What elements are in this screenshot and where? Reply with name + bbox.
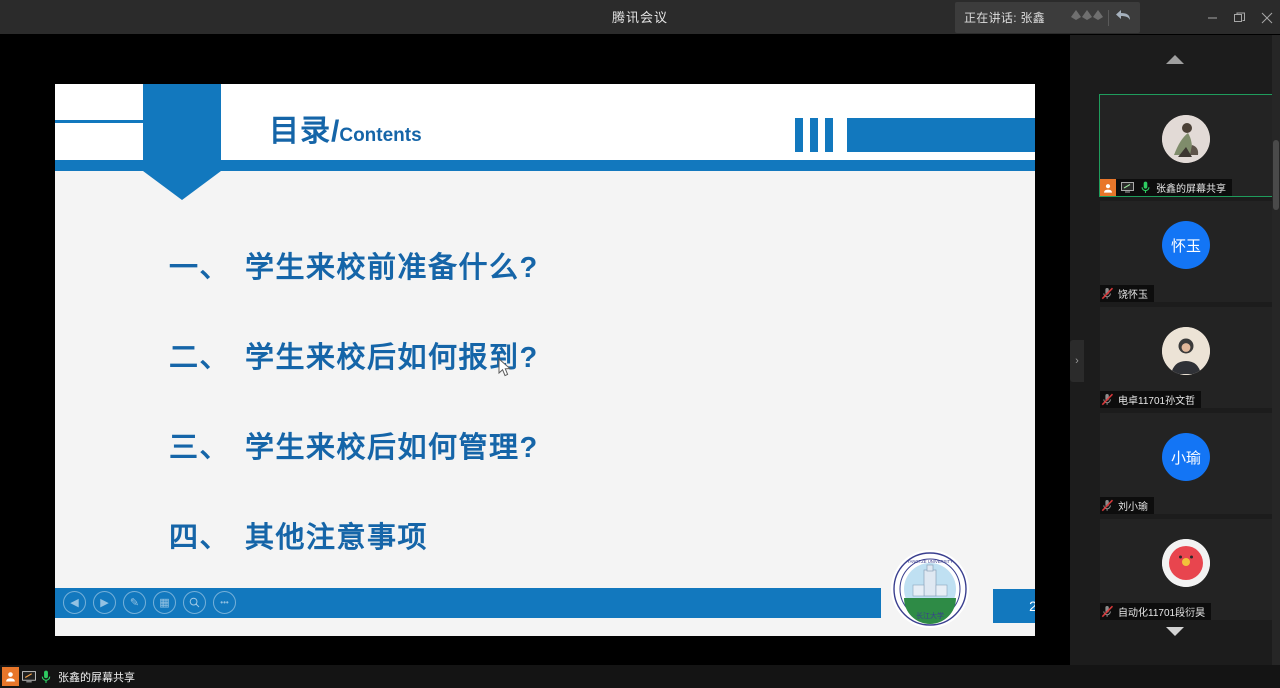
taskbar-item-label: 张鑫的屏幕共享: [58, 669, 135, 685]
slide-title: 目录/Contents: [269, 106, 422, 150]
microphone-icon: [1138, 181, 1152, 194]
slide-page-number: 2: [993, 589, 1035, 623]
active-speaker-chip: 正在讲话: 张鑫: [955, 2, 1140, 33]
participant-name: 电卓11701孙文哲: [1118, 392, 1195, 407]
title-bar[interactable]: 腾讯会议 正在讲话: 张鑫: [0, 0, 1280, 35]
list-item-text: 其他注意事项: [245, 514, 428, 556]
participant-tile[interactable]: 怀玉 饶怀玉: [1100, 201, 1272, 302]
restore-button[interactable]: [1226, 0, 1253, 35]
slide-title-cn: 目录: [269, 115, 331, 148]
list-item-number: 三、: [169, 424, 245, 466]
shared-screen-area[interactable]: 目录/Contents 一、 学生来校前准备什么? 二、 学生来校后如何报到? …: [0, 35, 1070, 665]
next-slide-icon[interactable]: ▶: [93, 591, 116, 614]
avatar: [1162, 327, 1210, 375]
list-item: 三、 学生来校后如何管理?: [169, 424, 1009, 466]
list-item-text: 学生来校后如何管理?: [245, 424, 539, 466]
participant-label: 电卓11701孙文哲: [1100, 391, 1201, 408]
host-icon: [2, 667, 19, 686]
audio-wave-icon: [1070, 8, 1104, 27]
avatar: [1162, 115, 1210, 163]
participant-label: 自动化11701段衍昊: [1100, 603, 1211, 620]
svg-text:长江大学: 长江大学: [916, 611, 944, 620]
list-item: 一、 学生来校前准备什么?: [169, 244, 1009, 286]
participant-name: 刘小瑜: [1118, 498, 1148, 513]
list-item-number: 一、: [169, 244, 245, 286]
screen-share-icon[interactable]: [22, 671, 36, 683]
list-item: 四、 其他注意事项: [169, 514, 1009, 556]
collapse-sidebar-handle[interactable]: ›: [1070, 340, 1084, 382]
list-item: 二、 学生来校后如何报到?: [169, 334, 1009, 376]
scroll-down-arrow-icon[interactable]: [1070, 620, 1280, 642]
participant-tile[interactable]: 电卓11701孙文哲: [1100, 307, 1272, 408]
slide-header-tag-arrow: [143, 171, 221, 200]
participant-name: 饶怀玉: [1118, 286, 1148, 301]
window-controls: [1199, 0, 1280, 35]
slide-contents-list: 一、 学生来校前准备什么? 二、 学生来校后如何报到? 三、 学生来校后如何管理…: [169, 244, 1009, 604]
microphone-icon[interactable]: [39, 670, 53, 684]
return-to-meeting-icon[interactable]: [1115, 8, 1131, 27]
minimize-button[interactable]: [1199, 0, 1226, 35]
chip-divider: [1108, 10, 1109, 26]
microphone-muted-icon: [1100, 287, 1114, 300]
presenter-toolbar[interactable]: ◀ ▶ ✎ ▦ •••: [63, 591, 236, 614]
scroll-up-arrow-icon[interactable]: [1070, 48, 1280, 70]
avatar: 怀玉: [1162, 221, 1210, 269]
host-icon: [1100, 179, 1116, 196]
participant-tile[interactable]: 张鑫的屏幕共享: [1100, 95, 1272, 196]
participant-label: 刘小瑜: [1100, 497, 1154, 514]
sidebar-scrollbar-track[interactable]: [1272, 35, 1280, 665]
participant-label: 饶怀玉: [1100, 285, 1154, 302]
slide-header-tag-block: [143, 84, 221, 160]
slide-header-right-bar: [847, 118, 1035, 152]
taskbar-screen-share-item[interactable]: 张鑫的屏幕共享: [0, 665, 135, 688]
microphone-muted-icon: [1100, 393, 1114, 406]
list-item-number: 四、: [169, 514, 245, 556]
previous-slide-icon[interactable]: ◀: [63, 591, 86, 614]
list-item-text: 学生来校后如何报到?: [245, 334, 539, 376]
slide-header-ticks: [795, 118, 833, 152]
svg-text:YANGTZE UNIVERSITY: YANGTZE UNIVERSITY: [907, 559, 953, 564]
slide-header-tag-stem: [143, 160, 221, 171]
sidebar-scrollbar-thumb[interactable]: [1273, 140, 1279, 210]
all-slides-icon[interactable]: ▦: [153, 591, 176, 614]
participant-tile[interactable]: 自动化11701段衍昊: [1100, 519, 1272, 620]
more-options-icon[interactable]: •••: [213, 591, 236, 614]
presentation-slide[interactable]: 目录/Contents 一、 学生来校前准备什么? 二、 学生来校后如何报到? …: [55, 84, 1035, 636]
slide-header-left-rule: [55, 120, 143, 123]
university-logo: YANGTZE UNIVERSITY 长江大学: [891, 550, 969, 628]
pen-icon[interactable]: ✎: [123, 591, 146, 614]
avatar: [1162, 539, 1210, 587]
screen-share-icon: [1120, 182, 1134, 193]
microphone-muted-icon: [1100, 499, 1114, 512]
zoom-icon[interactable]: [183, 591, 206, 614]
list-item-number: 二、: [169, 334, 245, 376]
mouse-cursor: [498, 358, 512, 383]
participant-label: 张鑫的屏幕共享: [1100, 179, 1232, 196]
avatar: 小瑜: [1162, 433, 1210, 481]
taskbar[interactable]: 张鑫的屏幕共享: [0, 665, 1280, 688]
close-button[interactable]: [1253, 0, 1280, 35]
participant-name: 张鑫的屏幕共享: [1156, 180, 1226, 195]
list-item-text: 学生来校前准备什么?: [245, 244, 539, 286]
slide-title-en: Contents: [339, 125, 421, 146]
participant-tile[interactable]: 小瑜 刘小瑜: [1100, 413, 1272, 514]
microphone-muted-icon: [1100, 605, 1114, 618]
participant-name: 自动化11701段衍昊: [1118, 604, 1205, 619]
active-speaker-label: 正在讲话: 张鑫: [964, 9, 1045, 26]
